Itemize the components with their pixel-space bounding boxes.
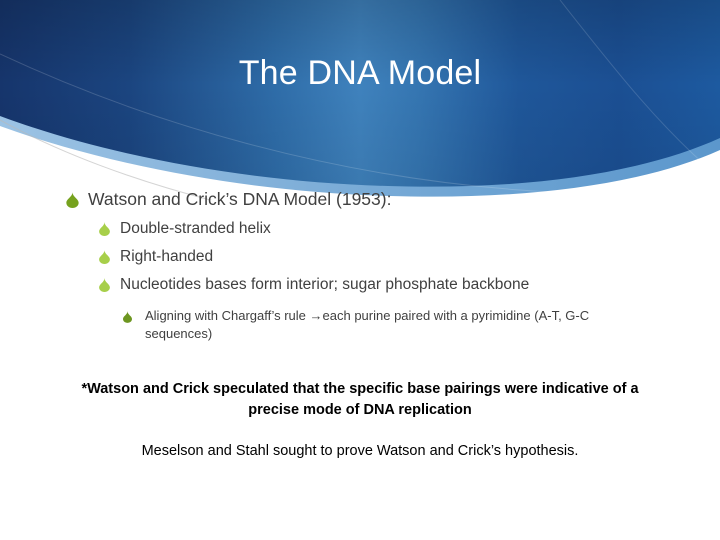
slide-canvas: The DNA Model Watson and Crick’s DNA Mod…	[0, 0, 720, 540]
list-item: Aligning with Chargaff’s rule →each puri…	[0, 307, 720, 343]
list-item-label: Double-stranded helix	[120, 218, 271, 239]
green-droplet-bullet-icon	[99, 250, 110, 264]
green-droplet-bullet-icon	[123, 310, 132, 322]
page-title: The DNA Model	[0, 52, 720, 94]
list-item: Double-stranded helix	[0, 218, 720, 239]
list-item-label: Watson and Crick’s DNA Model (1953):	[88, 188, 391, 210]
list-item-label: Nucleotides bases form interior; sugar p…	[120, 274, 529, 295]
closing-note: Meselson and Stahl sought to prove Watso…	[60, 441, 660, 462]
speculation-note: *Watson and Crick speculated that the sp…	[60, 379, 660, 421]
green-droplet-bullet-icon	[99, 222, 110, 236]
banner-shape	[0, 0, 720, 200]
green-droplet-bullet-icon	[99, 278, 110, 292]
header-banner: The DNA Model	[0, 0, 720, 200]
list-item-label: Aligning with Chargaff’s rule →each puri…	[145, 307, 615, 343]
bullet-list: Watson and Crick’s DNA Model (1953): Dou…	[0, 188, 720, 343]
list-item: Nucleotides bases form interior; sugar p…	[0, 274, 720, 295]
list-item-label: Right-handed	[120, 246, 213, 267]
list-item: Watson and Crick’s DNA Model (1953):	[0, 188, 720, 210]
list-item: Right-handed	[0, 246, 720, 267]
green-droplet-bullet-icon	[66, 192, 79, 208]
